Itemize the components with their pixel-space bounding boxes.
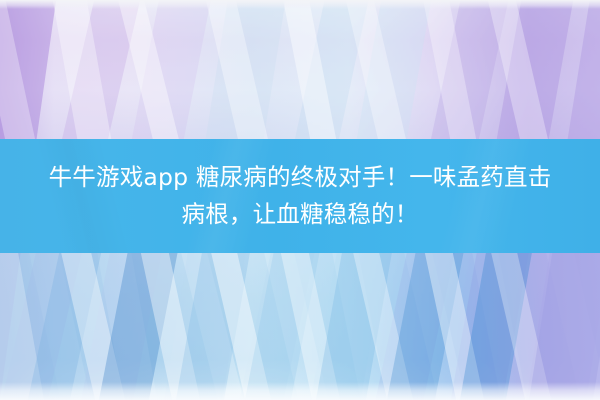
lray-15 bbox=[477, 253, 572, 400]
lray-10 bbox=[300, 253, 403, 400]
lray-16 bbox=[514, 253, 600, 400]
lray-14 bbox=[444, 253, 543, 400]
headline-line-1: 牛牛游戏app 糖尿病的终极对手！一味孟药直击 bbox=[49, 165, 552, 190]
promo-banner-image: 牛牛游戏app 糖尿病的终极对手！一味孟药直击 病根，让血糖稳稳的！ bbox=[0, 0, 600, 400]
lray-9 bbox=[268, 253, 360, 400]
lray-11 bbox=[339, 253, 434, 400]
top-edge-fade bbox=[0, 0, 600, 9]
light-rays-lower bbox=[0, 253, 600, 400]
headline-block: 牛牛游戏app 糖尿病的终极对手！一味孟药直击 病根，让血糖稳稳的！ bbox=[0, 139, 600, 253]
lray-1 bbox=[0, 253, 60, 400]
lray-13 bbox=[412, 253, 504, 400]
bottom-edge-fade bbox=[0, 382, 600, 400]
lray-12 bbox=[369, 253, 475, 400]
lray-7 bbox=[197, 253, 292, 400]
lray-5 bbox=[128, 253, 220, 400]
background-lower-blue-wash bbox=[0, 253, 600, 400]
headline-line-2: 病根，让血糖稳稳的！ bbox=[182, 202, 419, 227]
lray-3 bbox=[47, 253, 146, 400]
lray-6 bbox=[160, 253, 261, 400]
lray-2 bbox=[8, 253, 114, 400]
lray-4 bbox=[81, 253, 189, 400]
lray-8 bbox=[227, 253, 331, 400]
